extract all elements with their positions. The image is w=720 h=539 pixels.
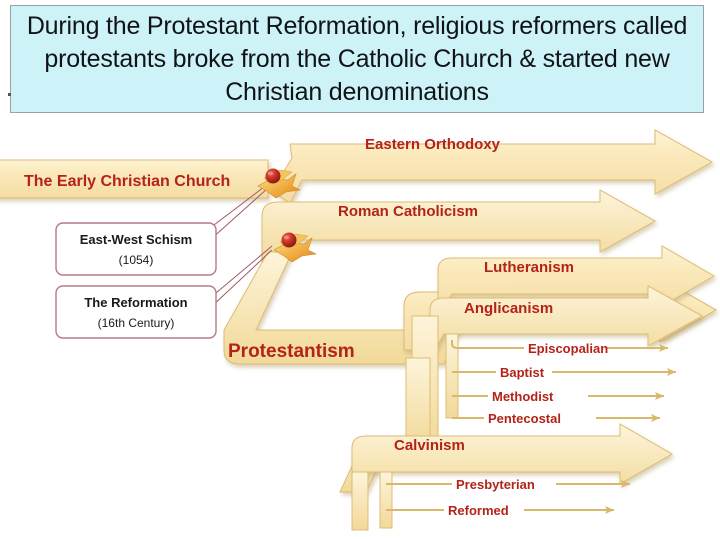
label-episcopalian: Episcopalian <box>528 341 608 356</box>
label-calvinism: Calvinism <box>394 437 465 454</box>
label-presbyterian: Presbyterian <box>456 477 535 492</box>
label-reformed: Reformed <box>448 503 509 518</box>
sub-branch-episcopalian[interactable]: Episcopalian <box>452 340 668 356</box>
label-lutheranism-text: Lutheranism <box>484 259 574 276</box>
sub-branch-methodist[interactable]: Methodist <box>452 389 664 404</box>
sub-branch-presbyterian[interactable]: Presbyterian <box>386 477 630 492</box>
label-early-christian-church: The Early Christian Church <box>24 173 230 190</box>
band-eastern-orthodoxy: Eastern Orthodoxy <box>272 130 712 203</box>
label-roman-catholicism: Roman Catholicism <box>338 203 478 220</box>
callout-subtitle-1: (1054) <box>119 253 154 267</box>
label-protestantism: Protestantism <box>228 341 355 362</box>
band-roman-catholicism: Roman Catholicism <box>262 190 655 264</box>
callout-title-1: East-West Schism <box>80 232 192 247</box>
callout-east-west-schism[interactable]: East-West Schism (1054) <box>56 223 216 275</box>
label-eastern-orthodoxy: Eastern Orthodoxy <box>365 136 501 153</box>
label-pentecostal: Pentecostal <box>488 411 561 426</box>
caption-box: During the Protestant Reformation, relig… <box>10 5 704 113</box>
sub-branch-reformed[interactable]: Reformed <box>386 503 614 518</box>
label-baptist: Baptist <box>500 365 545 380</box>
label-methodist: Methodist <box>492 389 554 404</box>
denominations-flow-diagram: The Early Christian Church Eastern Ortho… <box>0 118 720 539</box>
callout-the-reformation[interactable]: The Reformation (16th Century) <box>56 286 216 338</box>
slide-canvas: During the Protestant Reformation, relig… <box>0 0 720 539</box>
callout-title-2: The Reformation <box>84 295 187 310</box>
label-anglicanism: Anglicanism <box>464 300 553 317</box>
sub-branch-pentecostal[interactable]: Pentecostal <box>452 411 660 426</box>
callout-subtitle-2: (16th Century) <box>98 316 175 330</box>
band-early-christian-church: The Early Christian Church <box>0 160 268 198</box>
caption-text: During the Protestant Reformation, relig… <box>11 10 703 109</box>
stray-mark <box>8 93 11 96</box>
sub-branch-baptist[interactable]: Baptist <box>452 365 676 380</box>
calvinism-sub-bracket <box>352 472 392 530</box>
